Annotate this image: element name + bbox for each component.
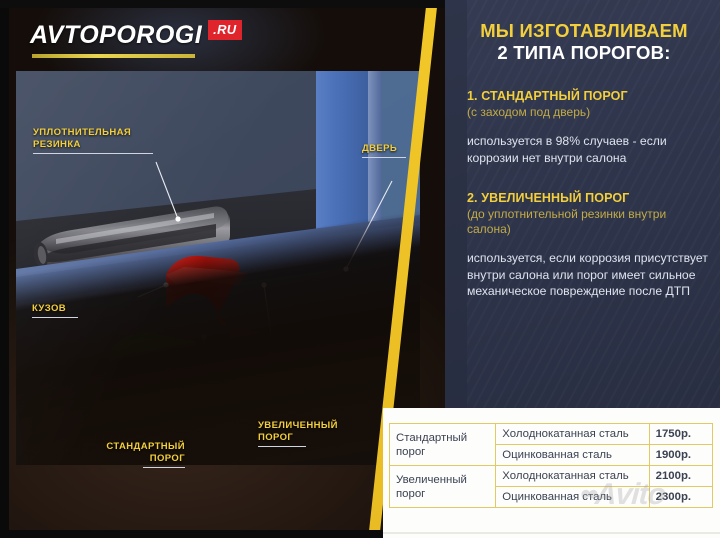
frame-edge-bottom xyxy=(0,530,445,538)
price-row-material: Холоднокатанная сталь xyxy=(496,466,649,487)
section-standard-subheading: (с заходом под дверь) xyxy=(467,105,713,120)
callout-label-seal: УПЛОТНИТЕЛЬНАЯ РЕЗИНКА xyxy=(33,127,161,154)
price-row-price: 2100р. xyxy=(649,466,712,487)
section-standard: 1. СТАНДАРТНЫЙ ПОРОГ (с заходом под двер… xyxy=(467,88,713,166)
price-table-card: Стандартный порог Холоднокатанная сталь … xyxy=(383,408,720,538)
section-extended-subheading: (до уплотнительной резинки внутри салона… xyxy=(467,207,713,237)
poster-canvas: AVTOPOROGI .RU xyxy=(0,0,720,538)
section-spacer xyxy=(467,166,713,190)
brand-logo-text: AVTOPOROGI xyxy=(30,21,202,49)
price-row-name: Стандартный порог xyxy=(390,424,496,466)
section-standard-body: используется в 98% случаев - если корроз… xyxy=(467,133,713,166)
page-title-line1: МЫ ИЗГОТАВЛИВАЕМ xyxy=(455,20,713,42)
page-title: МЫ ИЗГОТАВЛИВАЕМ 2 ТИПА ПОРОГОВ: xyxy=(455,20,713,64)
callout-underline-body xyxy=(32,317,78,318)
callout-underline-seal xyxy=(33,153,153,154)
table-row: Стандартный порог Холоднокатанная сталь … xyxy=(390,424,713,445)
frame-edge-top xyxy=(0,0,445,8)
brand-logo-tld: .RU xyxy=(208,20,242,40)
price-row-price: 2300р. xyxy=(649,487,712,508)
brand-logo[interactable]: AVTOPOROGI .RU xyxy=(30,18,242,52)
callout-underline-extended xyxy=(258,446,306,447)
callout-underline-door xyxy=(362,157,406,158)
price-row-material: Оцинкованная сталь xyxy=(496,445,649,466)
section-extended: 2. УВЕЛИЧЕННЫЙ ПОРОГ (до уплотнительной … xyxy=(467,190,713,300)
price-row-name: Увеличенный порог xyxy=(390,466,496,508)
table-baseline xyxy=(383,532,720,534)
section-extended-body: используется, если коррозия присутствует… xyxy=(467,250,713,300)
table-row: Увеличенный порог Холоднокатанная сталь … xyxy=(390,466,713,487)
brand-logo-underline xyxy=(32,54,195,58)
callout-label-body: КУЗОВ xyxy=(32,303,90,318)
price-row-material: Оцинкованная сталь xyxy=(496,487,649,508)
frame-edge-left xyxy=(0,0,9,538)
price-table: Стандартный порог Холоднокатанная сталь … xyxy=(389,423,713,508)
price-row-price: 1900р. xyxy=(649,445,712,466)
page-title-line2: 2 ТИПА ПОРОГОВ: xyxy=(455,42,713,64)
sections-list: 1. СТАНДАРТНЫЙ ПОРОГ (с заходом под двер… xyxy=(467,88,713,300)
callout-label-standard-sill: СТАНДАРТНЫЙ ПОРОГ xyxy=(93,441,185,468)
callout-label-extended-sill: УВЕЛИЧЕННЫЙ ПОРОГ xyxy=(258,420,350,447)
price-row-price: 1750р. xyxy=(649,424,712,445)
section-extended-heading: 2. УВЕЛИЧЕННЫЙ ПОРОГ xyxy=(467,190,713,206)
price-row-material: Холоднокатанная сталь xyxy=(496,424,649,445)
callout-underline-standard xyxy=(143,467,185,468)
section-standard-heading: 1. СТАНДАРТНЫЙ ПОРОГ xyxy=(467,88,713,104)
